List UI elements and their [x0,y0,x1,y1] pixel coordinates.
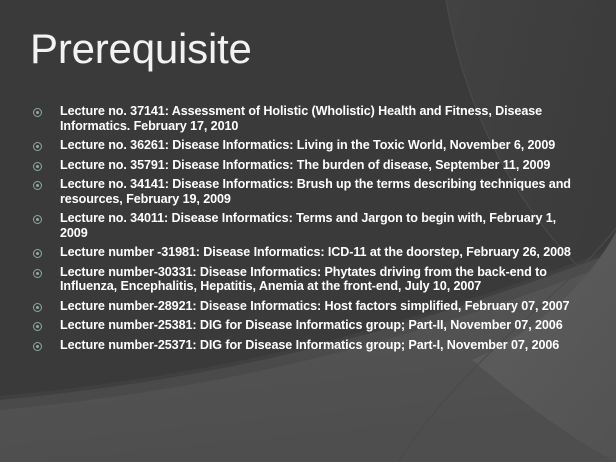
ring-bullet-icon [33,108,42,117]
ring-bullet-icon [33,215,42,224]
list-item: Lecture no. 36261: Disease Informatics: … [33,138,585,153]
ring-bullet-icon [33,342,42,351]
presentation-slide: Prerequisite Lecture no. 37141: Assessme… [0,0,616,462]
list-item-text: Lecture no. 34141: Disease Informatics: … [60,177,585,206]
list-item-text: Lecture no. 36261: Disease Informatics: … [60,138,585,153]
list-item-text: Lecture number-25381: DIG for Disease In… [60,318,585,333]
ring-bullet-icon [33,249,42,258]
ring-bullet-icon [33,181,42,190]
list-item: Lecture no. 35791: Disease Informatics: … [33,158,585,173]
ring-bullet-icon [33,142,42,151]
ring-bullet-icon [33,303,42,312]
list-item: Lecture number-28921: Disease Informatic… [33,299,585,314]
list-item-text: Lecture number-28921: Disease Informatic… [60,299,585,314]
list-item: Lecture number-25371: DIG for Disease In… [33,338,585,353]
list-item-text: Lecture no. 37141: Assessment of Holisti… [60,104,585,133]
list-item-text: Lecture number -31981: Disease Informati… [60,245,585,260]
bullet-list: Lecture no. 37141: Assessment of Holisti… [33,104,585,357]
list-item-text: Lecture number-25371: DIG for Disease In… [60,338,585,353]
list-item-text: Lecture number-30331: Disease Informatic… [60,265,585,294]
list-item: Lecture no. 34011: Disease Informatics: … [33,211,585,240]
slide-title: Prerequisite [30,24,252,74]
list-item: Lecture number -31981: Disease Informati… [33,245,585,260]
list-item: Lecture no. 34141: Disease Informatics: … [33,177,585,206]
ring-bullet-icon [33,162,42,171]
list-item-text: Lecture no. 35791: Disease Informatics: … [60,158,585,173]
ring-bullet-icon [33,322,42,331]
list-item: Lecture number-30331: Disease Informatic… [33,265,585,294]
ring-bullet-icon [33,269,42,278]
list-item: Lecture no. 37141: Assessment of Holisti… [33,104,585,133]
list-item: Lecture number-25381: DIG for Disease In… [33,318,585,333]
list-item-text: Lecture no. 34011: Disease Informatics: … [60,211,585,240]
